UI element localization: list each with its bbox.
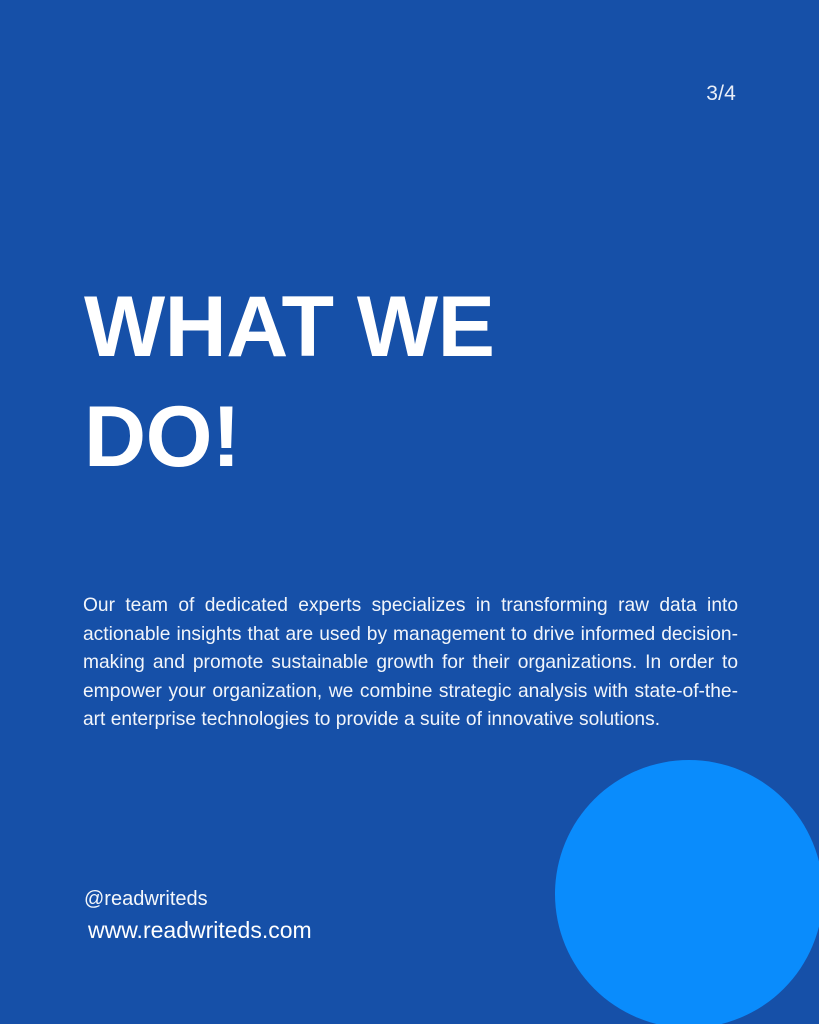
footer-block: @readwriteds www.readwriteds.com: [84, 884, 312, 946]
page-indicator: 3/4: [706, 82, 736, 106]
headline-line-1: WHAT WE: [84, 272, 704, 382]
slide-canvas: 3/4 WHAT WE DO! Our team of dedicated ex…: [0, 0, 819, 1024]
headline-block: WHAT WE DO!: [84, 272, 704, 492]
footer-website-url: www.readwriteds.com: [88, 914, 312, 946]
body-paragraph: Our team of dedicated experts specialize…: [83, 592, 738, 735]
corner-circle-decoration: [555, 760, 819, 1024]
footer-social-handle: @readwriteds: [84, 884, 312, 914]
headline-line-2: DO!: [84, 382, 704, 492]
